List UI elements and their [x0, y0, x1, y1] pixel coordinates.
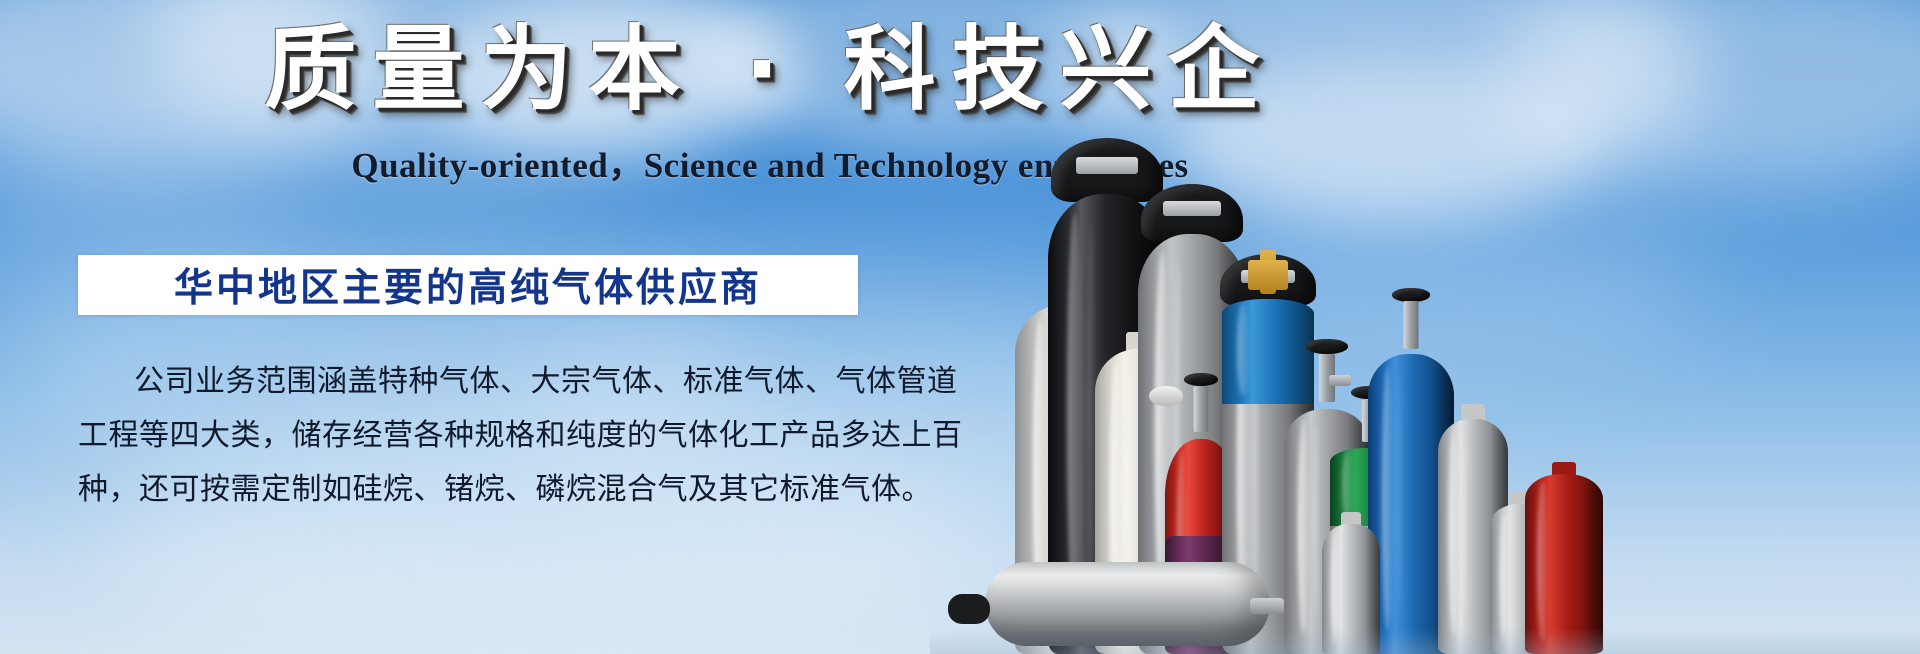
- paragraph-line: 工程等四大类，储存经营各种规格和纯度的气体化工产品多达上百: [78, 409, 868, 463]
- banner-paragraph: 公司业务范围涵盖特种气体、大宗气体、标准气体、气体管道 工程等四大类，储存经营各…: [78, 355, 868, 517]
- paragraph-line: 种，还可按需定制如硅烷、锗烷、磷烷混合气及其它标准气体。: [78, 463, 868, 517]
- highlight-box-text: 华中地区主要的高纯气体供应商: [78, 255, 858, 315]
- cylinder-lying-valve: [948, 594, 990, 624]
- gas-cylinders-image: [930, 0, 1920, 654]
- cylinder-dark-red: [1525, 474, 1603, 654]
- highlight-box: 华中地区主要的高纯气体供应商: [78, 255, 858, 315]
- ground-shadow: [930, 628, 1920, 654]
- cylinder-lying-neck: [1250, 598, 1284, 614]
- paragraph-line: 公司业务范围涵盖特种气体、大宗气体、标准气体、气体管道: [78, 355, 868, 409]
- hero-banner: 质量为本 · 科技兴企 Quality-oriented，Science and…: [0, 0, 1920, 654]
